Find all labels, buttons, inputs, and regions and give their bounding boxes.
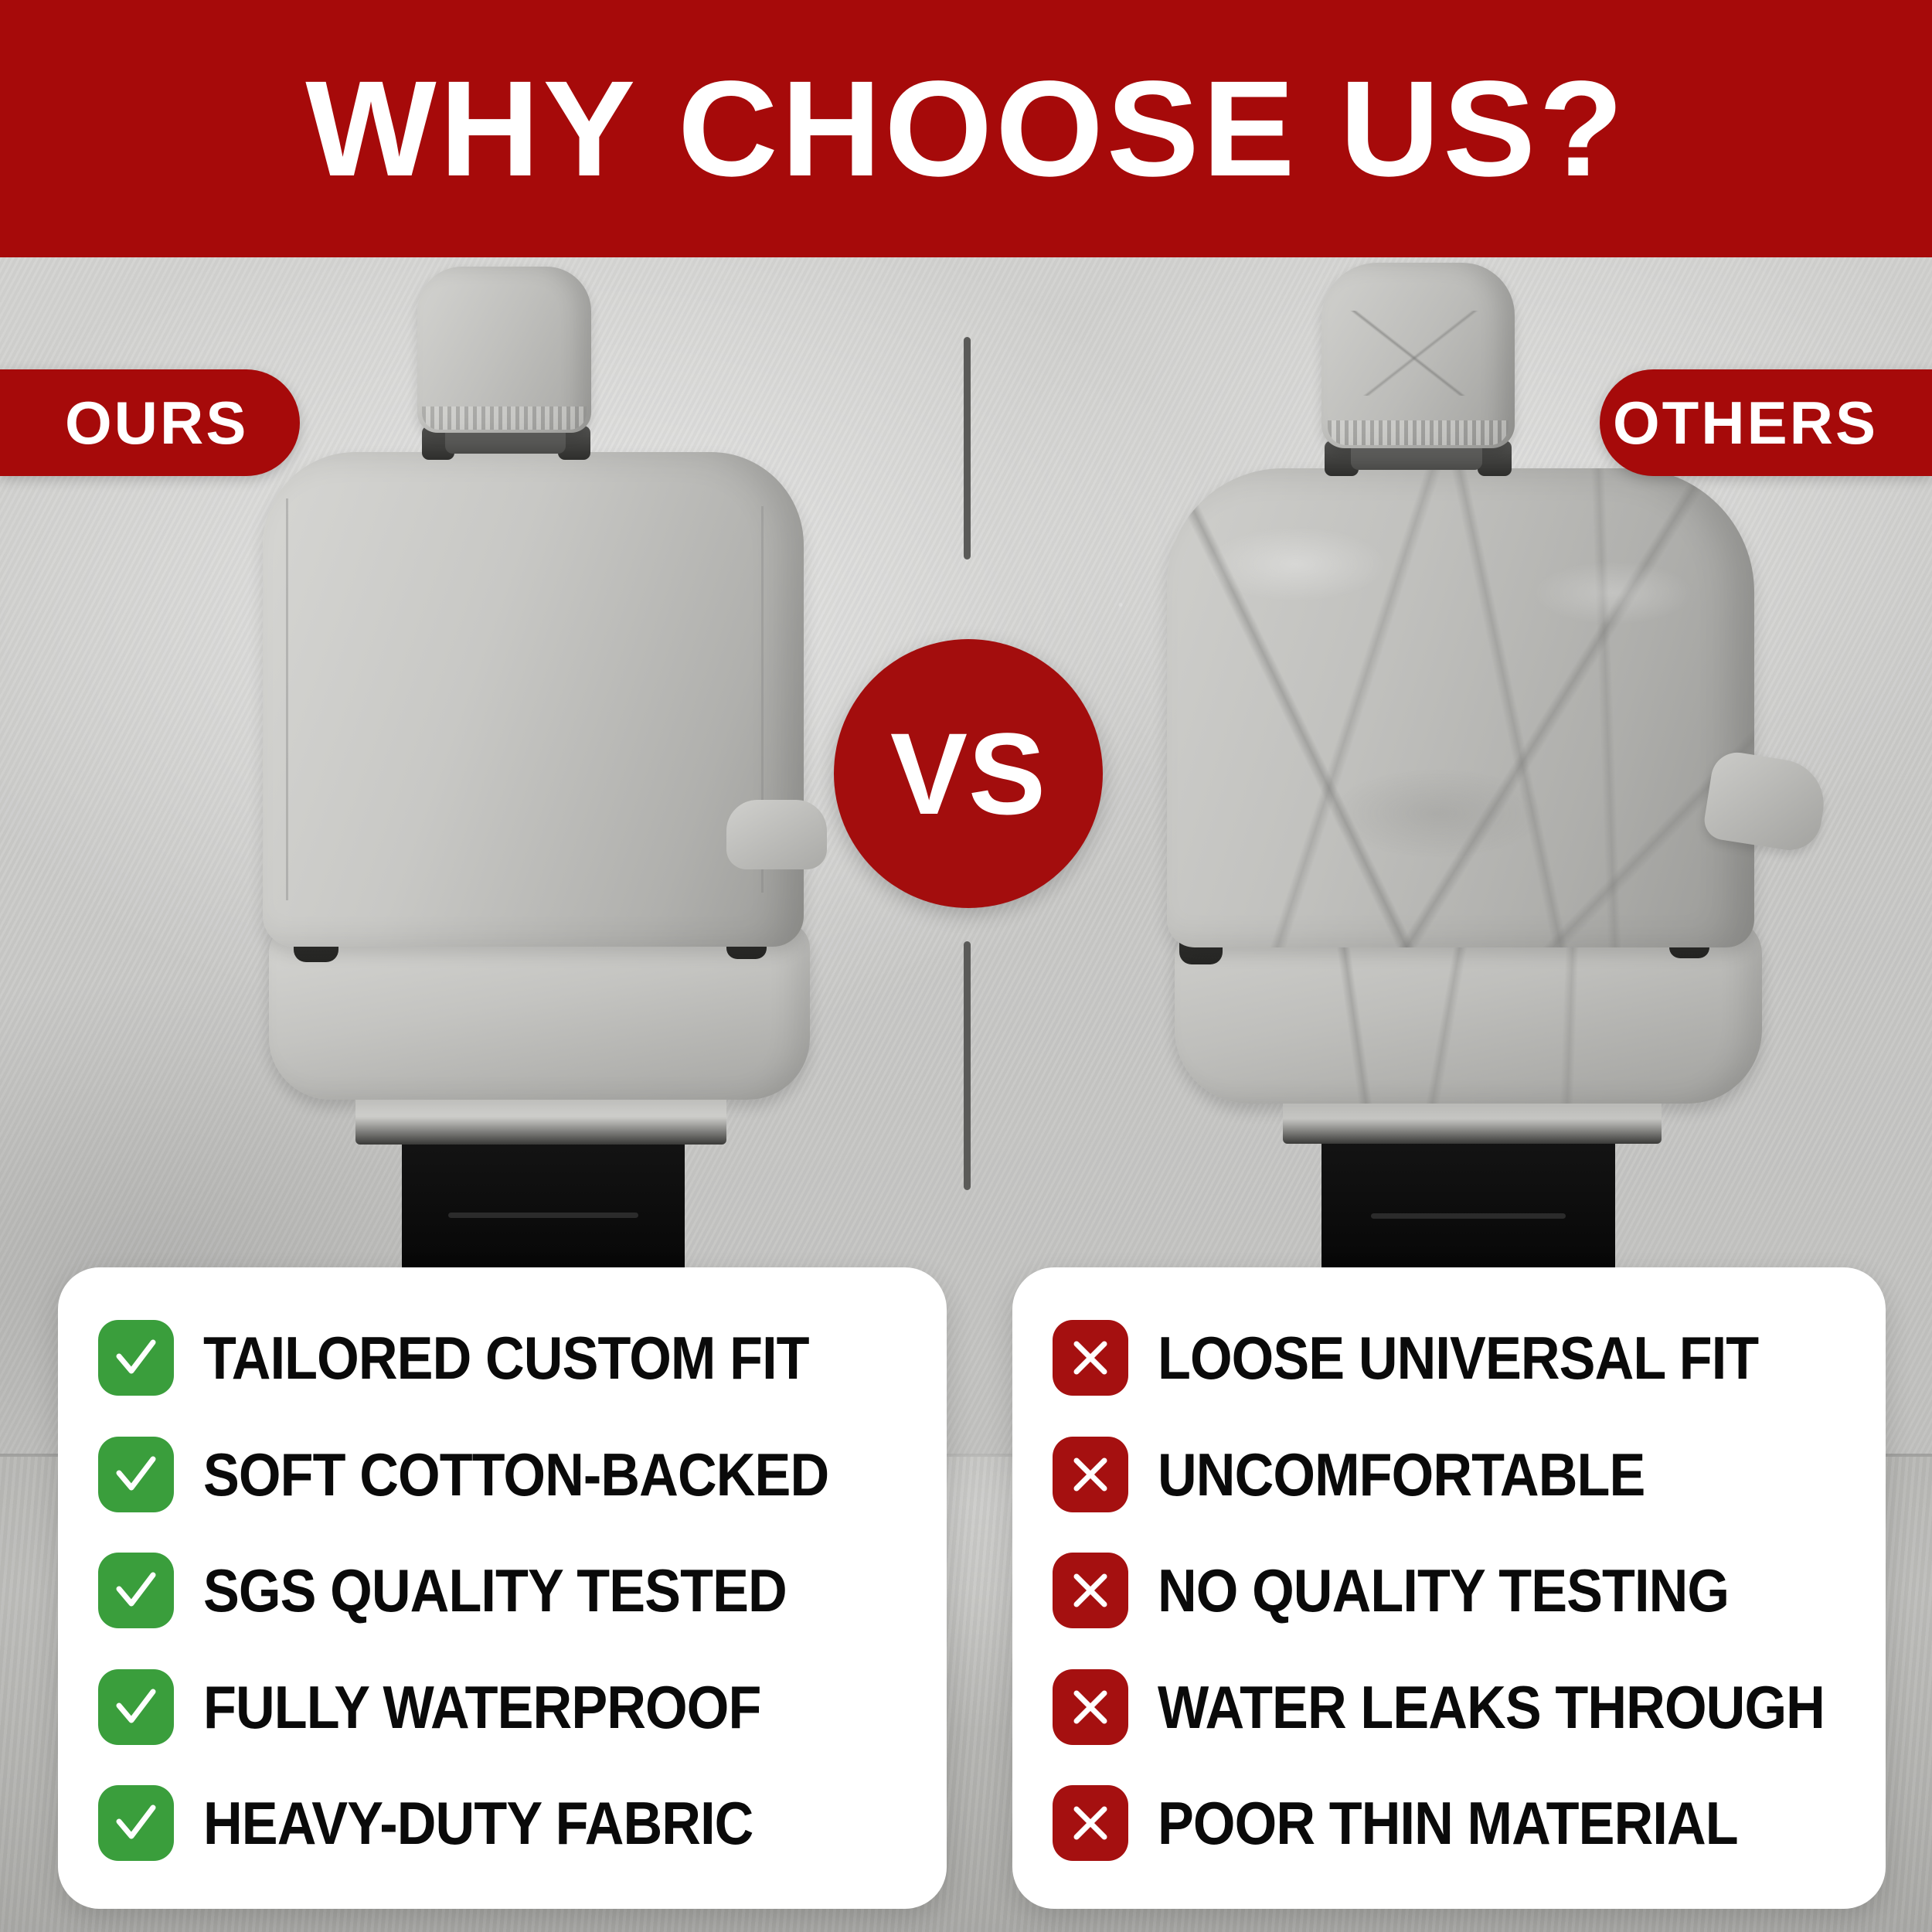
divider-line-top bbox=[964, 337, 971, 560]
pros-item-label: TAILORED CUSTOM FIT bbox=[203, 1328, 809, 1388]
header-banner: WHY CHOOSE US? bbox=[0, 0, 1932, 257]
seat-armrest bbox=[726, 800, 827, 869]
cons-item-label: LOOSE UNIVERSAL FIT bbox=[1158, 1328, 1758, 1388]
cons-item-label: UNCOMFORTABLE bbox=[1158, 1444, 1645, 1505]
cross-icon bbox=[1053, 1553, 1128, 1628]
cons-card: LOOSE UNIVERSAL FIT UNCOMFORTABLE NO QUA… bbox=[1012, 1267, 1886, 1909]
page-title: WHY CHOOSE US? bbox=[305, 61, 1627, 197]
cross-icon bbox=[1053, 1669, 1128, 1745]
vs-label: VS bbox=[890, 716, 1046, 832]
others-badge-label: OTHERS bbox=[1613, 393, 1878, 453]
headrest-cover bbox=[417, 267, 591, 433]
seat-backrest-cover bbox=[1167, 468, 1754, 947]
pros-item-label: HEAVY-DUTY FABRIC bbox=[203, 1793, 753, 1853]
check-icon bbox=[98, 1553, 174, 1628]
check-icon bbox=[98, 1320, 174, 1396]
pros-item-label: SGS QUALITY TESTED bbox=[203, 1560, 787, 1621]
divider-line-bottom bbox=[964, 941, 971, 1190]
cons-item-label: WATER LEAKS THROUGH bbox=[1158, 1677, 1825, 1737]
cross-icon bbox=[1053, 1785, 1128, 1861]
list-item: LOOSE UNIVERSAL FIT bbox=[1053, 1311, 1852, 1405]
check-icon bbox=[98, 1437, 174, 1512]
cross-icon bbox=[1053, 1320, 1128, 1396]
cons-item-label: POOR THIN MATERIAL bbox=[1158, 1793, 1738, 1853]
pros-item-label: SOFT COTTON-BACKED bbox=[203, 1444, 828, 1505]
pros-item-label: FULLY WATERPROOF bbox=[203, 1677, 760, 1737]
list-item: SGS QUALITY TESTED bbox=[98, 1543, 913, 1638]
seat-pedestal-base bbox=[1321, 1138, 1615, 1270]
pros-card: TAILORED CUSTOM FIT SOFT COTTON-BACKED S… bbox=[58, 1267, 947, 1909]
ours-badge-label: OURS bbox=[65, 393, 248, 453]
list-item: POOR THIN MATERIAL bbox=[1053, 1776, 1852, 1870]
seat-pedestal-base bbox=[402, 1138, 685, 1270]
ours-seat-photo bbox=[263, 267, 819, 1264]
seat-backrest-cover bbox=[263, 452, 804, 947]
ours-badge: OURS bbox=[0, 369, 300, 476]
list-item: HEAVY-DUTY FABRIC bbox=[98, 1776, 913, 1870]
why-choose-us-poster: VS WHY CHOOSE US? OURS OTHERS TAILORED C… bbox=[0, 0, 1932, 1932]
check-icon bbox=[98, 1785, 174, 1861]
check-icon bbox=[98, 1669, 174, 1745]
headrest-cover bbox=[1321, 263, 1515, 448]
list-item: TAILORED CUSTOM FIT bbox=[98, 1311, 913, 1405]
list-item: WATER LEAKS THROUGH bbox=[1053, 1660, 1852, 1754]
cons-item-label: NO QUALITY TESTING bbox=[1158, 1560, 1729, 1621]
list-item: FULLY WATERPROOF bbox=[98, 1660, 913, 1754]
list-item: SOFT COTTON-BACKED bbox=[98, 1427, 913, 1522]
list-item: UNCOMFORTABLE bbox=[1053, 1427, 1852, 1522]
list-item: NO QUALITY TESTING bbox=[1053, 1543, 1852, 1638]
vs-badge: VS bbox=[834, 639, 1103, 908]
cross-icon bbox=[1053, 1437, 1128, 1512]
others-badge: OTHERS bbox=[1600, 369, 1932, 476]
